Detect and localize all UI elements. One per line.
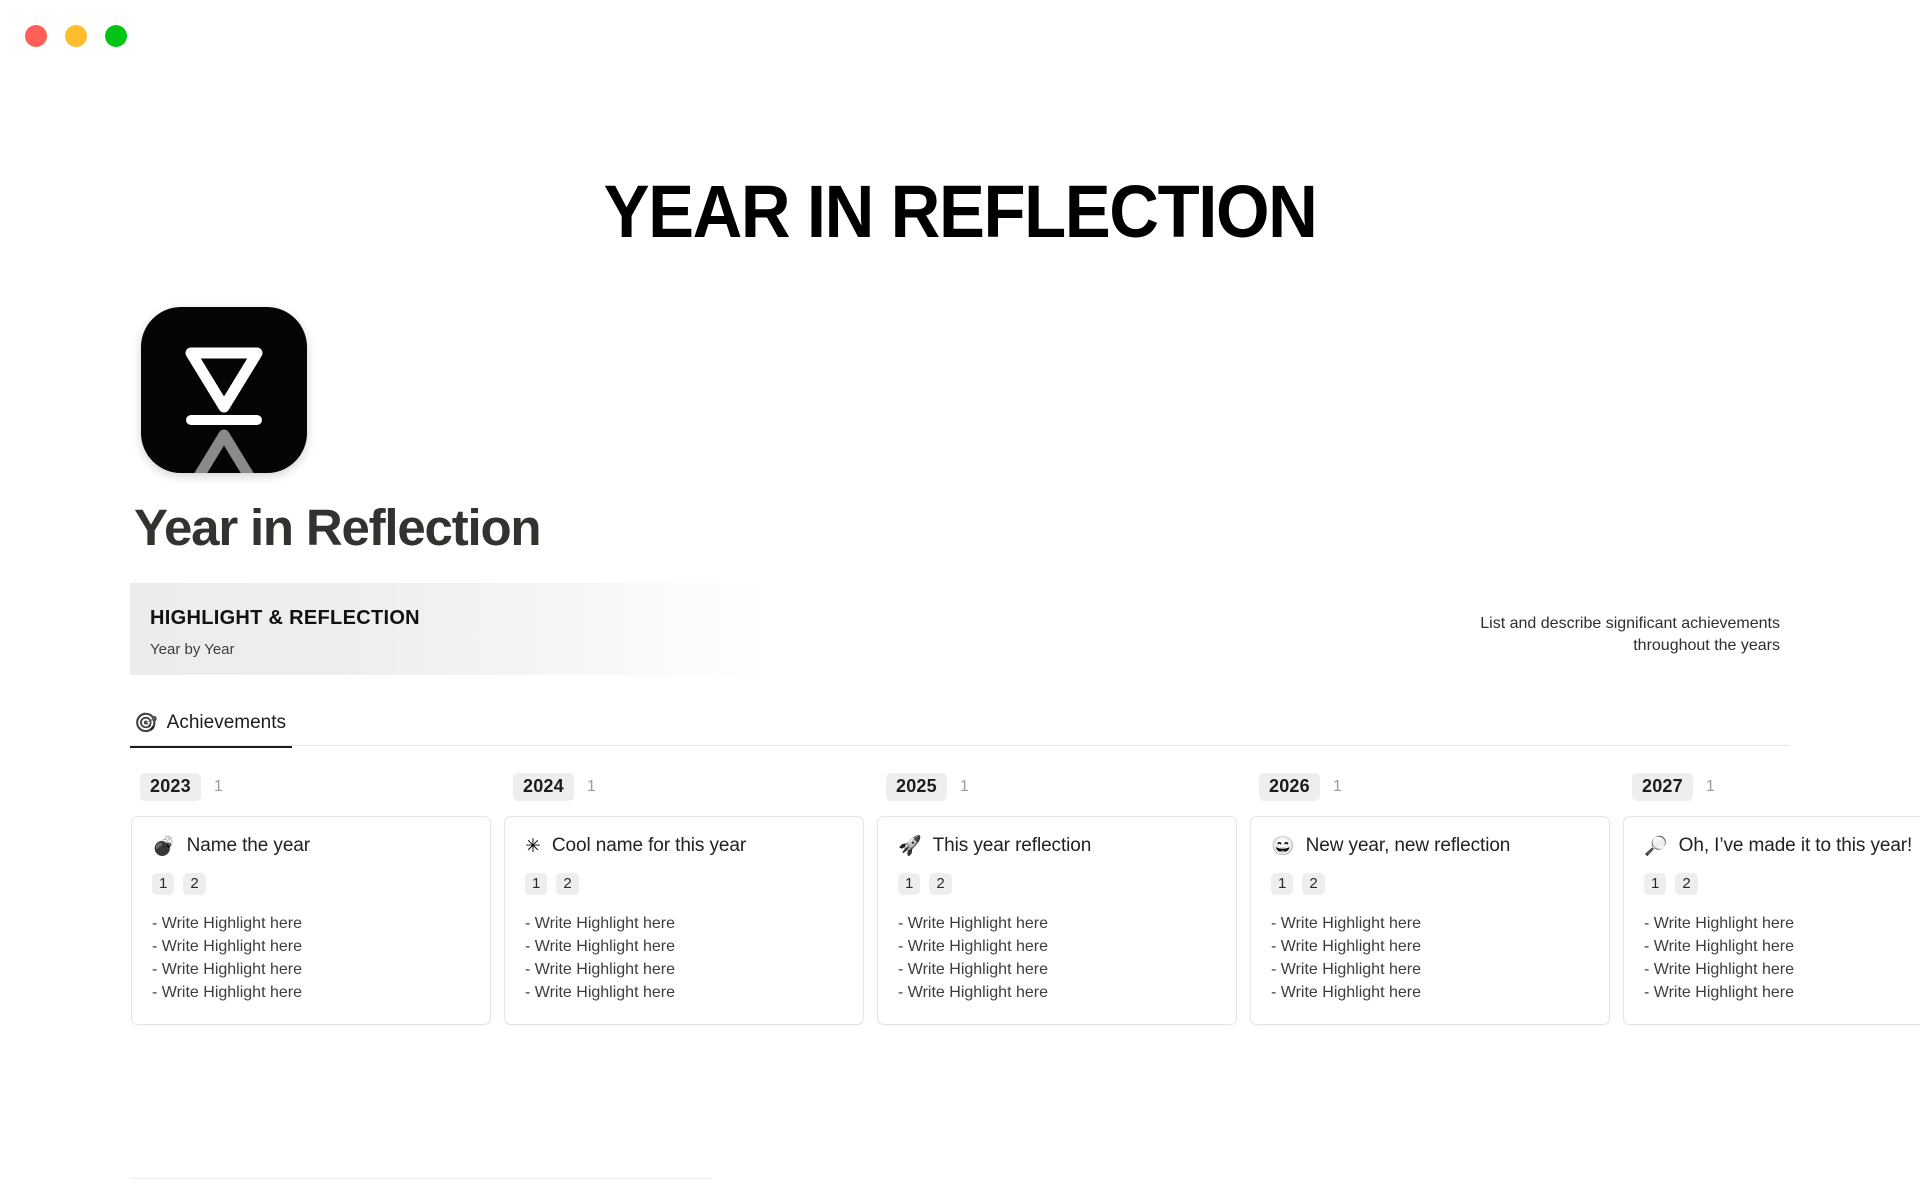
tag-chip[interactable]: 1 <box>525 873 547 895</box>
highlight-lines: - Write Highlight here- Write Highlight … <box>152 915 470 1002</box>
highlight-line[interactable]: - Write Highlight here <box>152 938 470 956</box>
highlight-line[interactable]: - Write Highlight here <box>898 938 1216 956</box>
achievement-card[interactable]: 🔎Oh, I’ve made it to this year!12- Write… <box>1623 816 1920 1025</box>
achievement-card[interactable]: 🚀This year reflection12- Write Highlight… <box>877 816 1237 1025</box>
year-column: 20251🚀This year reflection12- Write High… <box>877 772 1237 1025</box>
card-tags: 12 <box>525 873 843 895</box>
tag-chip[interactable]: 2 <box>183 873 205 895</box>
column-count: 1 <box>214 778 223 796</box>
minimize-button[interactable] <box>65 25 87 47</box>
card-header: 💣Name the year <box>152 835 470 857</box>
replay-eye-icon: 🔎 <box>1644 837 1668 856</box>
year-column: 20271🔎Oh, I’ve made it to this year!12- … <box>1623 772 1920 1025</box>
window-controls <box>25 25 127 47</box>
year-badge[interactable]: 2026 <box>1259 773 1320 801</box>
highlight-lines: - Write Highlight here- Write Highlight … <box>1644 915 1920 1002</box>
highlight-lines: - Write Highlight here- Write Highlight … <box>1271 915 1589 1002</box>
column-header: 20251 <box>877 772 1237 802</box>
tag-chip[interactable]: 2 <box>556 873 578 895</box>
tag-chip[interactable]: 2 <box>1675 873 1697 895</box>
column-header: 20271 <box>1623 772 1920 802</box>
page-title: Year in Reflection <box>134 498 540 557</box>
highlight-line[interactable]: - Write Highlight here <box>898 915 1216 933</box>
tag-chip[interactable]: 1 <box>1644 873 1666 895</box>
card-header: 😄New year, new reflection <box>1271 835 1589 857</box>
card-title: Oh, I’ve made it to this year! <box>1679 835 1913 857</box>
highlight-line[interactable]: - Write Highlight here <box>898 961 1216 979</box>
achievement-card[interactable]: 😄New year, new reflection12- Write Highl… <box>1250 816 1610 1025</box>
year-badge[interactable]: 2024 <box>513 773 574 801</box>
highlight-line[interactable]: - Write Highlight here <box>1271 961 1589 979</box>
highlight-line[interactable]: - Write Highlight here <box>1271 938 1589 956</box>
year-column: 20261😄New year, new reflection12- Write … <box>1250 772 1610 1025</box>
card-header: 🚀This year reflection <box>898 835 1216 857</box>
column-header: 20231 <box>131 772 491 802</box>
column-header: 20241 <box>504 772 864 802</box>
year-column: 20231💣Name the year12- Write Highlight h… <box>131 772 491 1025</box>
smiling-face-icon: 😄 <box>1271 837 1295 856</box>
year-badge[interactable]: 2023 <box>140 773 201 801</box>
highlight-line[interactable]: - Write Highlight here <box>1271 915 1589 933</box>
highlight-line[interactable]: - Write Highlight here <box>152 984 470 1002</box>
card-tags: 12 <box>152 873 470 895</box>
maximize-button[interactable] <box>105 25 127 47</box>
tag-chip[interactable]: 1 <box>152 873 174 895</box>
highlight-line[interactable]: - Write Highlight here <box>525 984 843 1002</box>
tab-divider <box>130 745 1790 746</box>
highlight-line[interactable]: - Write Highlight here <box>1644 961 1920 979</box>
footer-divider <box>131 1178 711 1179</box>
year-column: 20241✳Cool name for this year12- Write H… <box>504 772 864 1025</box>
card-header: 🔎Oh, I’ve made it to this year! <box>1644 835 1920 857</box>
highlight-lines: - Write Highlight here- Write Highlight … <box>898 915 1216 1002</box>
hero-title: YEAR IN REFLECTION <box>67 175 1853 249</box>
column-header: 20261 <box>1250 772 1610 802</box>
app-window: YEAR IN REFLECTION Year in Reflection HI… <box>0 0 1920 1200</box>
achievements-board: 20231💣Name the year12- Write Highlight h… <box>131 772 1920 1025</box>
highlight-line[interactable]: - Write Highlight here <box>152 961 470 979</box>
card-header: ✳Cool name for this year <box>525 835 843 857</box>
year-badge[interactable]: 2025 <box>886 773 947 801</box>
tab-achievements-label: Achievements <box>167 712 286 734</box>
rocket-icon: 🚀 <box>898 837 922 856</box>
column-count: 1 <box>960 778 969 796</box>
highlight-line[interactable]: - Write Highlight here <box>525 915 843 933</box>
highlight-line[interactable]: - Write Highlight here <box>525 938 843 956</box>
tag-chip[interactable]: 1 <box>1271 873 1293 895</box>
tag-chip[interactable]: 2 <box>1302 873 1324 895</box>
tag-chip[interactable]: 1 <box>898 873 920 895</box>
target-icon: 🎯 <box>134 714 158 733</box>
banner-subtitle: Year by Year <box>150 641 235 658</box>
highlight-line[interactable]: - Write Highlight here <box>152 915 470 933</box>
card-title: This year reflection <box>933 835 1092 857</box>
highlight-line[interactable]: - Write Highlight here <box>1644 915 1920 933</box>
card-tags: 12 <box>1271 873 1589 895</box>
achievement-card[interactable]: ✳Cool name for this year12- Write Highli… <box>504 816 864 1025</box>
card-title: Cool name for this year <box>552 835 746 857</box>
banner-title: HIGHLIGHT & REFLECTION <box>150 607 420 630</box>
card-title: Name the year <box>187 835 310 857</box>
tab-achievements[interactable]: 🎯 Achievements <box>130 712 292 748</box>
reflection-app-icon <box>141 307 307 473</box>
column-count: 1 <box>1706 778 1715 796</box>
highlight-line[interactable]: - Write Highlight here <box>525 961 843 979</box>
banner-note: List and describe significant achievemen… <box>1450 613 1780 657</box>
highlight-banner: HIGHLIGHT & REFLECTION Year by Year <box>130 583 770 675</box>
highlight-line[interactable]: - Write Highlight here <box>898 984 1216 1002</box>
close-button[interactable] <box>25 25 47 47</box>
card-title: New year, new reflection <box>1306 835 1511 857</box>
highlight-line[interactable]: - Write Highlight here <box>1271 984 1589 1002</box>
achievement-card[interactable]: 💣Name the year12- Write Highlight here- … <box>131 816 491 1025</box>
highlight-line[interactable]: - Write Highlight here <box>1644 938 1920 956</box>
sparkle-icon: ✳ <box>525 837 541 856</box>
card-tags: 12 <box>1644 873 1920 895</box>
column-count: 1 <box>587 778 596 796</box>
bomb-icon: 💣 <box>152 837 176 856</box>
year-badge[interactable]: 2027 <box>1632 773 1693 801</box>
card-tags: 12 <box>898 873 1216 895</box>
highlight-lines: - Write Highlight here- Write Highlight … <box>525 915 843 1002</box>
highlight-line[interactable]: - Write Highlight here <box>1644 984 1920 1002</box>
column-count: 1 <box>1333 778 1342 796</box>
tag-chip[interactable]: 2 <box>929 873 951 895</box>
